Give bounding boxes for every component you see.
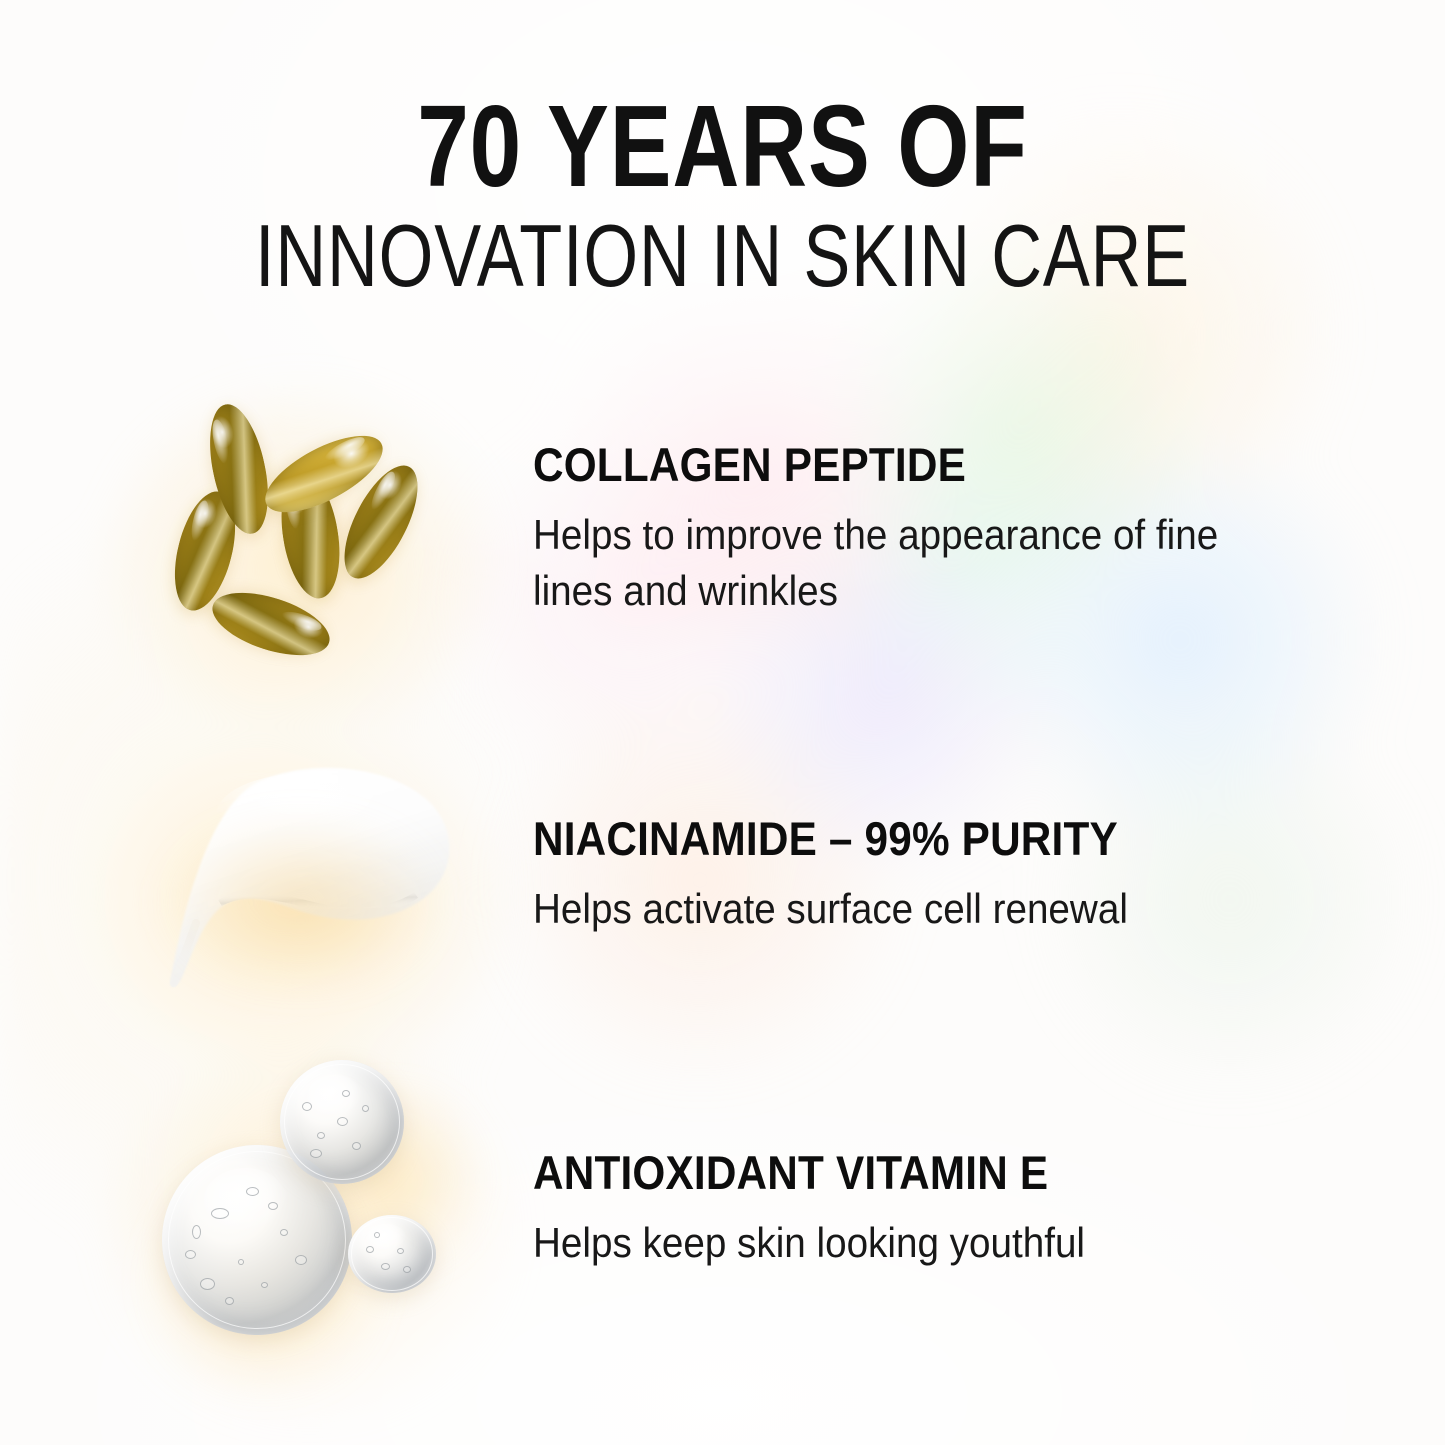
skincare-benefits-poster: 70 YEARS OF INNOVATION IN SKIN CARE COLL… bbox=[0, 0, 1445, 1445]
feature-description: Helps activate surface cell renewal bbox=[533, 881, 1241, 937]
gold-softgel-capsules-icon bbox=[120, 395, 500, 725]
feature-row-collagen-peptide: COLLAGEN PEPTIDE Helps to improve the ap… bbox=[0, 395, 1445, 725]
feature-row-niacinamide: NIACINAMIDE – 99% PURITY Helps activate … bbox=[0, 745, 1445, 1075]
page-title: 70 YEARS OF bbox=[145, 96, 1301, 196]
cream-shadow bbox=[156, 813, 446, 993]
feature-title: ANTIOXIDANT VITAMIN E bbox=[533, 1147, 1226, 1199]
feature-title: COLLAGEN PEPTIDE bbox=[533, 439, 1226, 491]
feature-title: NIACINAMIDE – 99% PURITY bbox=[533, 813, 1226, 865]
feature-text-niacinamide: NIACINAMIDE – 99% PURITY Helps activate … bbox=[533, 813, 1303, 937]
feature-description: Helps keep skin looking youthful bbox=[533, 1215, 1241, 1271]
feature-text-antioxidant-vitamin-e: ANTIOXIDANT VITAMIN E Helps keep skin lo… bbox=[533, 1147, 1303, 1271]
clear-gel-droplets-icon bbox=[120, 1055, 500, 1385]
gel-droplet-icon bbox=[348, 1215, 436, 1293]
page-subtitle: INNOVATION IN SKIN CARE bbox=[145, 210, 1301, 302]
feature-text-collagen-peptide: COLLAGEN PEPTIDE Helps to improve the ap… bbox=[533, 439, 1303, 619]
cream-swatch-shape bbox=[138, 753, 478, 1003]
gel-droplet-icon bbox=[280, 1060, 404, 1184]
poster-header: 70 YEARS OF INNOVATION IN SKIN CARE bbox=[0, 96, 1445, 302]
white-cream-swatch-icon bbox=[120, 745, 500, 1075]
feature-row-antioxidant-vitamin-e: ANTIOXIDANT VITAMIN E Helps keep skin lo… bbox=[0, 1055, 1445, 1385]
feature-description: Helps to improve the appearance of fine … bbox=[533, 507, 1241, 619]
